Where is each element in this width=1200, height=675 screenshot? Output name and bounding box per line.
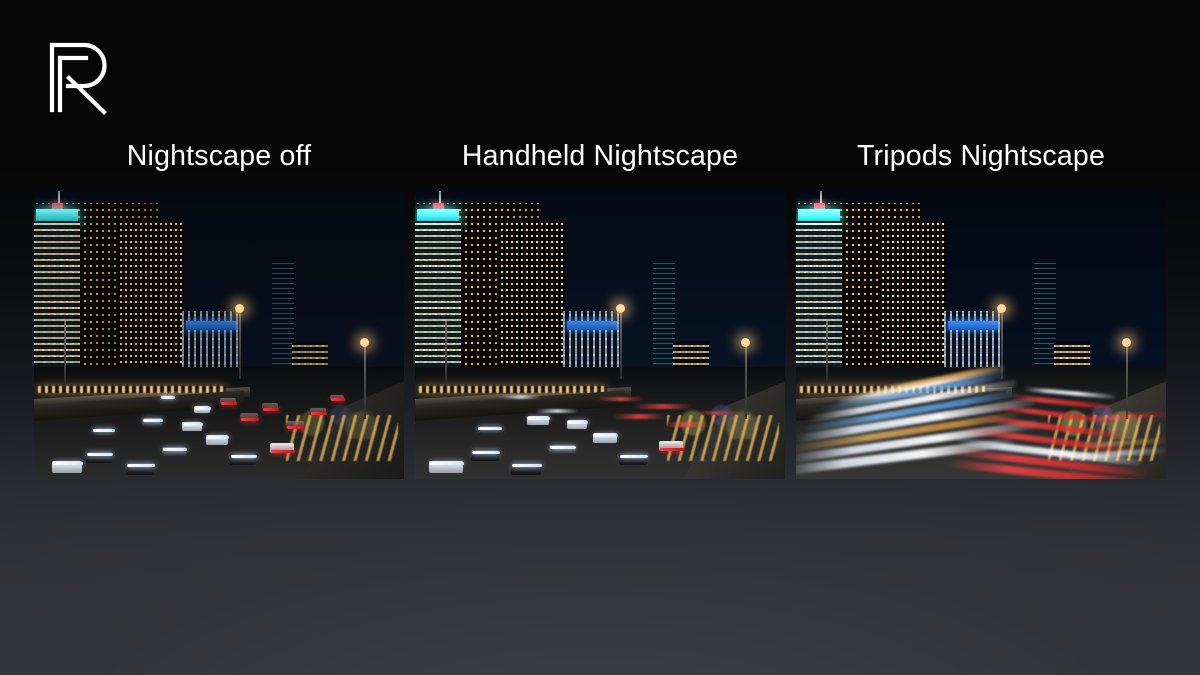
- car: [619, 454, 647, 465]
- car: [206, 435, 228, 445]
- slide-canvas: Nightscape off Handheld Nightscape Tripo…: [0, 0, 1200, 675]
- overpass-lights: [419, 386, 607, 393]
- photo-nightscape-off: [34, 191, 404, 479]
- car: [220, 398, 236, 405]
- car: [92, 428, 114, 437]
- car: [477, 426, 501, 435]
- overpass-lights: [38, 386, 226, 393]
- car: [270, 443, 294, 453]
- caption-handheld-nightscape: Handheld Nightscape: [415, 132, 785, 180]
- car: [511, 463, 541, 475]
- bank-sign: [186, 321, 236, 330]
- car: [194, 406, 210, 413]
- car: [549, 445, 575, 455]
- car: [160, 395, 174, 401]
- car: [330, 395, 344, 401]
- car: [86, 452, 112, 463]
- car: [286, 421, 304, 429]
- car: [471, 450, 499, 461]
- photo-tripods-nightscape: [796, 191, 1166, 479]
- car: [240, 413, 258, 421]
- bank-sign: [948, 321, 998, 330]
- realme-r-logo-icon: [44, 38, 112, 116]
- car: [567, 420, 587, 429]
- car: [262, 403, 278, 411]
- car: [230, 454, 256, 465]
- car: [126, 463, 154, 475]
- caption-tripods-nightscape: Tripods Nightscape: [796, 132, 1166, 180]
- photo-handheld-nightscape: [415, 191, 785, 479]
- car: [527, 416, 549, 425]
- car: [429, 461, 463, 473]
- car: [659, 441, 683, 451]
- caption-nightscape-off: Nightscape off: [34, 132, 404, 180]
- car: [593, 433, 617, 443]
- car: [310, 408, 326, 415]
- photo-comparison-row: [34, 191, 1166, 479]
- car: [52, 461, 82, 473]
- car: [142, 418, 162, 427]
- bank-sign: [567, 321, 617, 330]
- caption-row: Nightscape off Handheld Nightscape Tripo…: [34, 132, 1166, 180]
- car: [162, 447, 186, 457]
- car: [182, 422, 202, 431]
